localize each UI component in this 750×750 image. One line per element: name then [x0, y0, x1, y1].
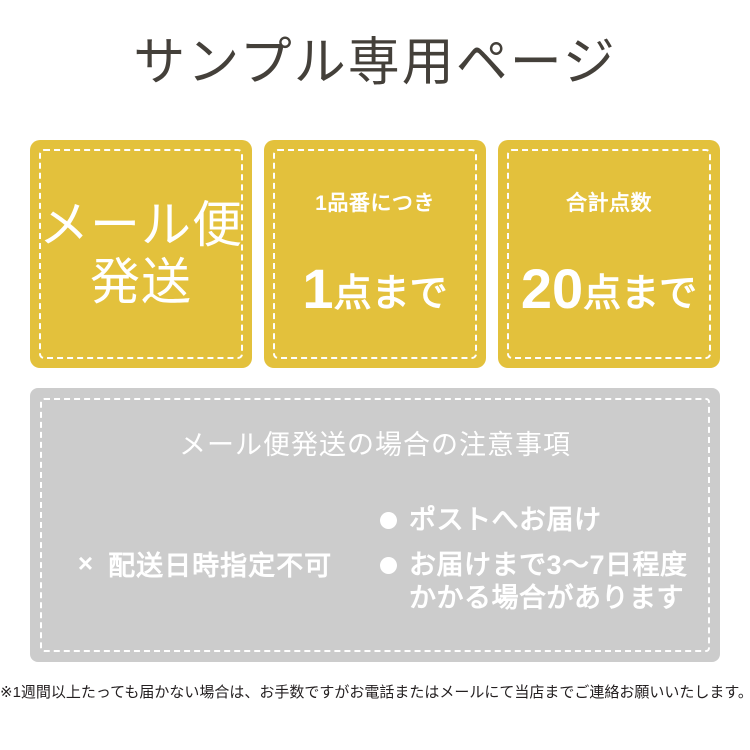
info-card-row: メール便 発送 1品番につき 1点まで 合計点数 20点まで — [30, 140, 720, 368]
card-shipping-method-line1: メール便 — [30, 197, 252, 253]
notice-bullet-text: ポストへお届け — [409, 504, 602, 537]
card-shipping-method: メール便 発送 — [30, 140, 252, 368]
bullet-dot-icon — [380, 512, 397, 529]
card-total-limit-value: 20点まで — [498, 261, 720, 317]
card-per-item-limit-label: 1品番につき — [264, 191, 486, 217]
card-per-item-limit-unit: 点まで — [334, 273, 448, 315]
notice-restriction-label: 配送日時指定不可 — [108, 544, 332, 583]
bullet-dot-icon — [380, 557, 397, 574]
card-total-limit-unit: 点まで — [583, 273, 697, 315]
notice-bullet-text: お届けまで3〜7日程度 かかる場合があります — [409, 549, 688, 615]
notice-panel: メール便発送の場合の注意事項 × 配送日時指定不可 ポストへお届け お届けまで3… — [30, 388, 720, 662]
card-per-item-limit-value: 1点まで — [264, 261, 486, 317]
sample-shipping-banner: サンプル専用ページ メール便 発送 1品番につき 1点まで 合計点数 — [0, 0, 750, 750]
notice-bullet-list: ポストへお届け お届けまで3〜7日程度 かかる場合があります — [380, 498, 710, 615]
card-total-limit: 合計点数 20点まで — [498, 140, 720, 368]
card-per-item-limit: 1品番につき 1点まで — [264, 140, 486, 368]
card-per-item-limit-content: 1品番につき 1点まで — [264, 191, 486, 317]
notice-body: × 配送日時指定不可 ポストへお届け お届けまで3〜7日程度 かかる場合がありま… — [30, 498, 720, 648]
notice-heading: メール便発送の場合の注意事項 — [30, 428, 720, 462]
list-item: ポストへお届け — [380, 504, 710, 537]
card-shipping-method-content: メール便 発送 — [30, 197, 252, 311]
list-item: お届けまで3〜7日程度 かかる場合があります — [380, 549, 710, 615]
notice-restriction: × 配送日時指定不可 — [30, 498, 380, 628]
page-title: サンプル専用ページ — [0, 32, 750, 94]
card-shipping-method-line2: 発送 — [30, 253, 252, 311]
card-total-limit-content: 合計点数 20点まで — [498, 191, 720, 317]
footnote: ※1週間以上たっても届かない場合は、お手数ですがお電話またはメールにて当店までご… — [0, 682, 750, 704]
card-total-limit-label: 合計点数 — [498, 191, 720, 217]
card-total-limit-number: 20 — [521, 257, 583, 320]
cross-icon: × — [78, 548, 94, 579]
card-per-item-limit-number: 1 — [302, 257, 333, 320]
